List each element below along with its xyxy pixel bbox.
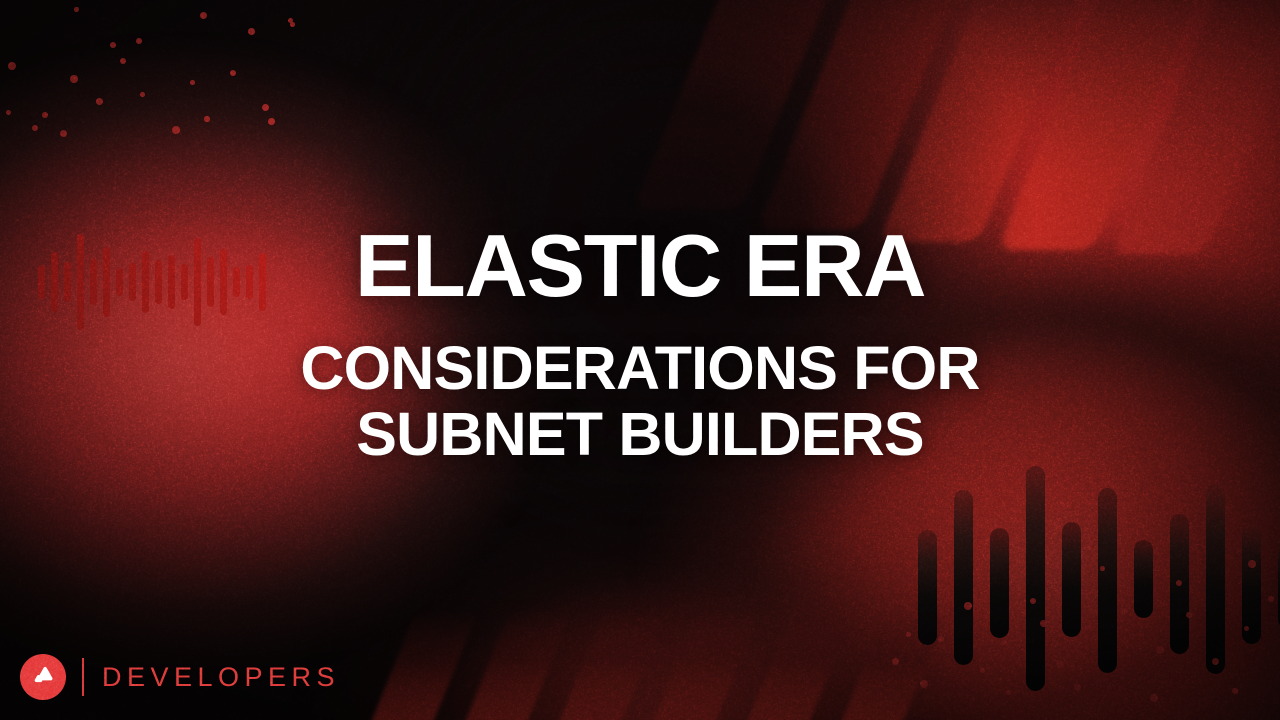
particle-dot	[190, 80, 195, 85]
particle-dot	[248, 28, 255, 35]
diagonal-stripe	[997, 0, 1263, 250]
diagonal-stripe	[700, 610, 855, 720]
slide-canvas: ELASTIC ERA CONSIDERATIONS FOR SUBNET BU…	[0, 0, 1280, 720]
particle-dot	[96, 98, 103, 105]
particle-dot	[60, 130, 67, 137]
diagonal-stripes-top-right	[700, 0, 1280, 250]
particle-dot	[1088, 624, 1093, 629]
particle-dot	[6, 110, 11, 115]
waveform-bar	[1242, 524, 1261, 644]
diagonal-stripe	[1112, 0, 1280, 254]
diagonal-stripes-bottom	[370, 610, 930, 720]
waveform-bar	[1134, 540, 1153, 618]
diagonal-stripe	[757, 0, 1023, 230]
particle-dot	[32, 125, 38, 131]
particle-dot	[288, 18, 293, 23]
brand-lockup: DEVELOPERS	[20, 654, 340, 700]
particle-dot	[938, 636, 944, 642]
waveform-bar	[1026, 466, 1045, 691]
diagonal-stripe	[418, 610, 573, 720]
particle-dot	[110, 42, 116, 48]
waveform-bar	[1062, 522, 1081, 637]
particle-dot	[892, 658, 899, 665]
particle-dot	[290, 22, 295, 27]
waveform-bar	[1206, 484, 1225, 674]
headline-block: ELASTIC ERA CONSIDERATIONS FOR SUBNET BU…	[0, 222, 1280, 468]
particle-dot	[1156, 646, 1164, 654]
particle-dot	[268, 118, 275, 125]
particle-dot	[70, 75, 78, 83]
logo-divider	[82, 658, 84, 696]
subtitle-line-1: CONSIDERATIONS FOR	[0, 336, 1280, 402]
diagonal-stripe	[879, 0, 1145, 242]
particle-dot	[74, 7, 79, 12]
particle-dots-top-left	[0, 0, 340, 200]
brand-label: DEVELOPERS	[102, 662, 340, 693]
particle-dot	[120, 58, 126, 64]
waveform-bar	[990, 528, 1009, 638]
particle-dot	[1006, 690, 1011, 695]
particle-dot	[140, 92, 145, 97]
particle-dot	[262, 104, 269, 111]
particle-dot	[136, 38, 142, 44]
page-title: ELASTIC ERA	[0, 222, 1280, 310]
particle-dot	[230, 70, 236, 76]
particle-dot	[42, 112, 48, 118]
particle-dot	[1056, 660, 1064, 668]
diagonal-stripe	[606, 610, 761, 720]
waveform-bar	[1170, 514, 1189, 654]
page-subtitle: CONSIDERATIONS FOR SUBNET BUILDERS	[0, 336, 1280, 468]
particle-dot	[1268, 596, 1274, 602]
particle-dot	[1074, 684, 1081, 691]
avalanche-logo-icon	[20, 654, 66, 700]
particle-dot	[1150, 694, 1158, 702]
diagonal-stripe	[633, 0, 895, 210]
glow-bottom-center	[300, 500, 1020, 720]
particle-dot	[200, 12, 207, 19]
particle-dot	[172, 126, 180, 134]
particle-dot	[906, 632, 911, 637]
particle-dot	[204, 116, 210, 122]
particle-dot	[1232, 688, 1238, 694]
waveform-bar	[954, 490, 973, 665]
diagonal-stripe	[324, 610, 479, 720]
waveform-bar	[1098, 488, 1117, 673]
particle-dot	[1002, 640, 1007, 645]
particle-dot	[8, 62, 16, 70]
particle-dot	[980, 668, 985, 673]
particle-dot	[920, 680, 928, 688]
particle-dot	[1120, 608, 1127, 615]
waveform-bar	[918, 530, 937, 645]
diagonal-stripe	[512, 610, 667, 720]
subtitle-line-2: SUBNET BUILDERS	[0, 402, 1280, 468]
